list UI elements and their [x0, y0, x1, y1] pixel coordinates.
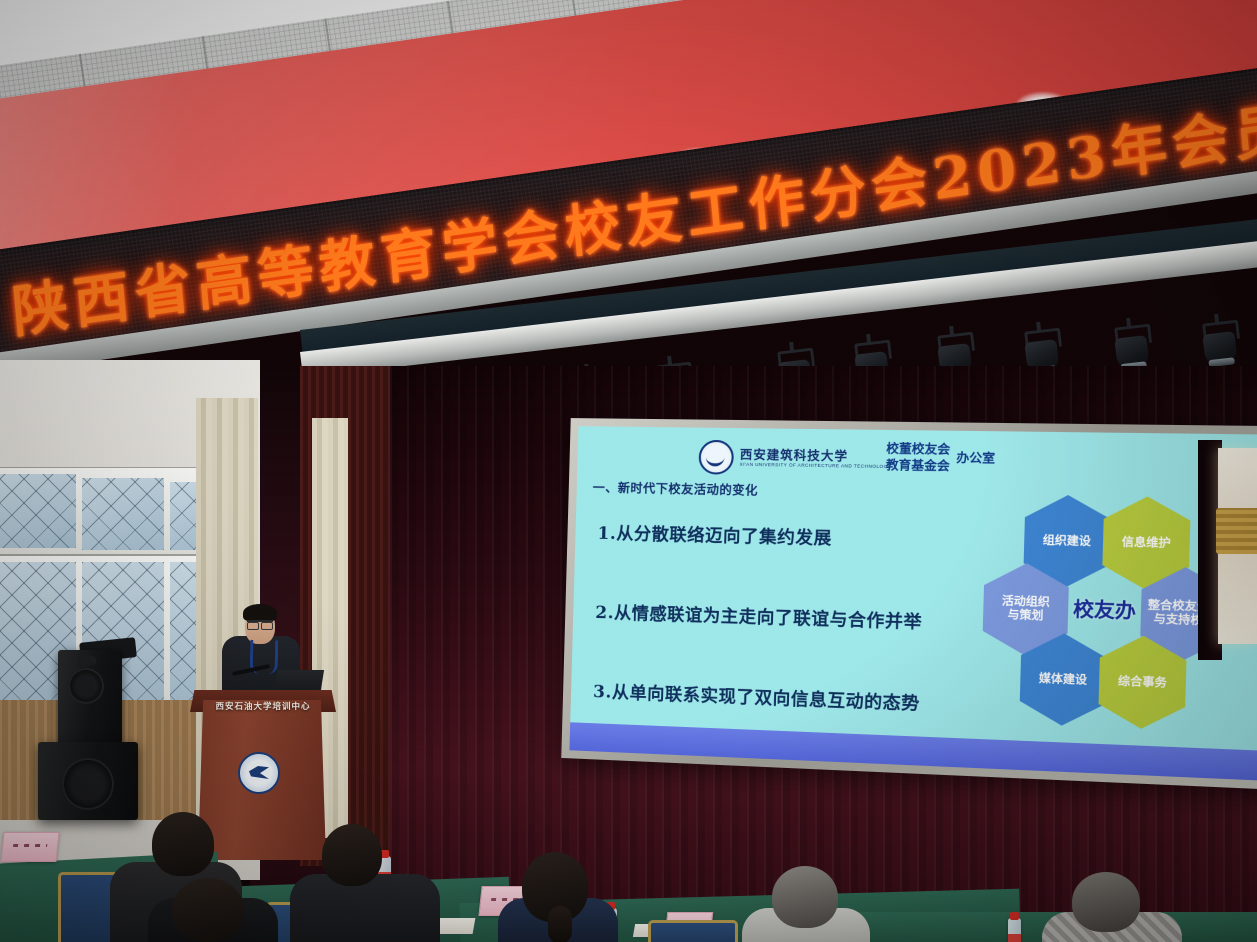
- attendee-head: [1072, 872, 1140, 932]
- hexagon-label: 信息维护: [1122, 536, 1171, 550]
- attendee-head: [172, 878, 244, 942]
- window-pane: [0, 474, 76, 548]
- glasses-icon: [247, 620, 273, 628]
- pa-speaker-top: [58, 650, 122, 746]
- attendee-head: [322, 824, 382, 886]
- wall-sconce-band: [1216, 508, 1257, 554]
- water-bottle: [1008, 918, 1021, 942]
- hexagon-label: 组织建设: [1043, 534, 1092, 548]
- org-line-1: 校董校友会: [886, 440, 950, 458]
- podium-label: 西安石油大学培训中心: [204, 700, 322, 712]
- hexagon-label: 校友办: [1073, 599, 1137, 624]
- university-name-en: XI'AN UNIVERSITY OF ARCHITECTURE AND TEC…: [740, 461, 892, 468]
- slide-bullet: 2.从情感联谊为主走向了联谊与合作并举: [595, 598, 937, 634]
- slide-university-logo: 西安建筑科技大学 XI'AN UNIVERSITY OF ARCHITECTUR…: [698, 440, 892, 478]
- attendee-head: [772, 866, 838, 928]
- slide-office-name: 校董校友会 教育基金会 办公室: [886, 440, 996, 475]
- chair: [648, 920, 738, 942]
- org-suffix: 办公室: [956, 450, 995, 467]
- slide-bullet: 1.从分散联络迈向了集约发展: [597, 519, 939, 552]
- conference-hall-photo: 陕西省高等教育学会校友工作分会2023年会员大会暨校友工作研讨会: [0, 0, 1257, 942]
- projection-screen: 西安建筑科技大学 XI'AN UNIVERSITY OF ARCHITECTUR…: [561, 418, 1257, 791]
- hexagon-label: 活动组织 与策划: [1001, 595, 1050, 623]
- window-pane: [82, 478, 164, 550]
- slide-bullet: 3.从单向联系实现了双向信息互动的态势: [593, 677, 935, 715]
- university-seal-icon: [698, 440, 734, 475]
- hexagon-label: 综合事务: [1118, 675, 1167, 690]
- presentation-slide: 西安建筑科技大学 XI'AN UNIVERSITY OF ARCHITECTUR…: [569, 426, 1257, 782]
- podium-emblem-icon: [238, 752, 280, 794]
- hexagon-label: 媒体建设: [1039, 672, 1088, 687]
- org-line-2: 教育基金会: [886, 457, 950, 475]
- name-card: [0, 832, 59, 862]
- ponytail-icon: [548, 906, 572, 942]
- attendee-head: [152, 812, 214, 876]
- stage-light-icon: [1200, 320, 1239, 370]
- slide-title: 一、新时代下校友活动的变化: [593, 478, 759, 498]
- pa-speaker-subwoofer: [38, 742, 138, 820]
